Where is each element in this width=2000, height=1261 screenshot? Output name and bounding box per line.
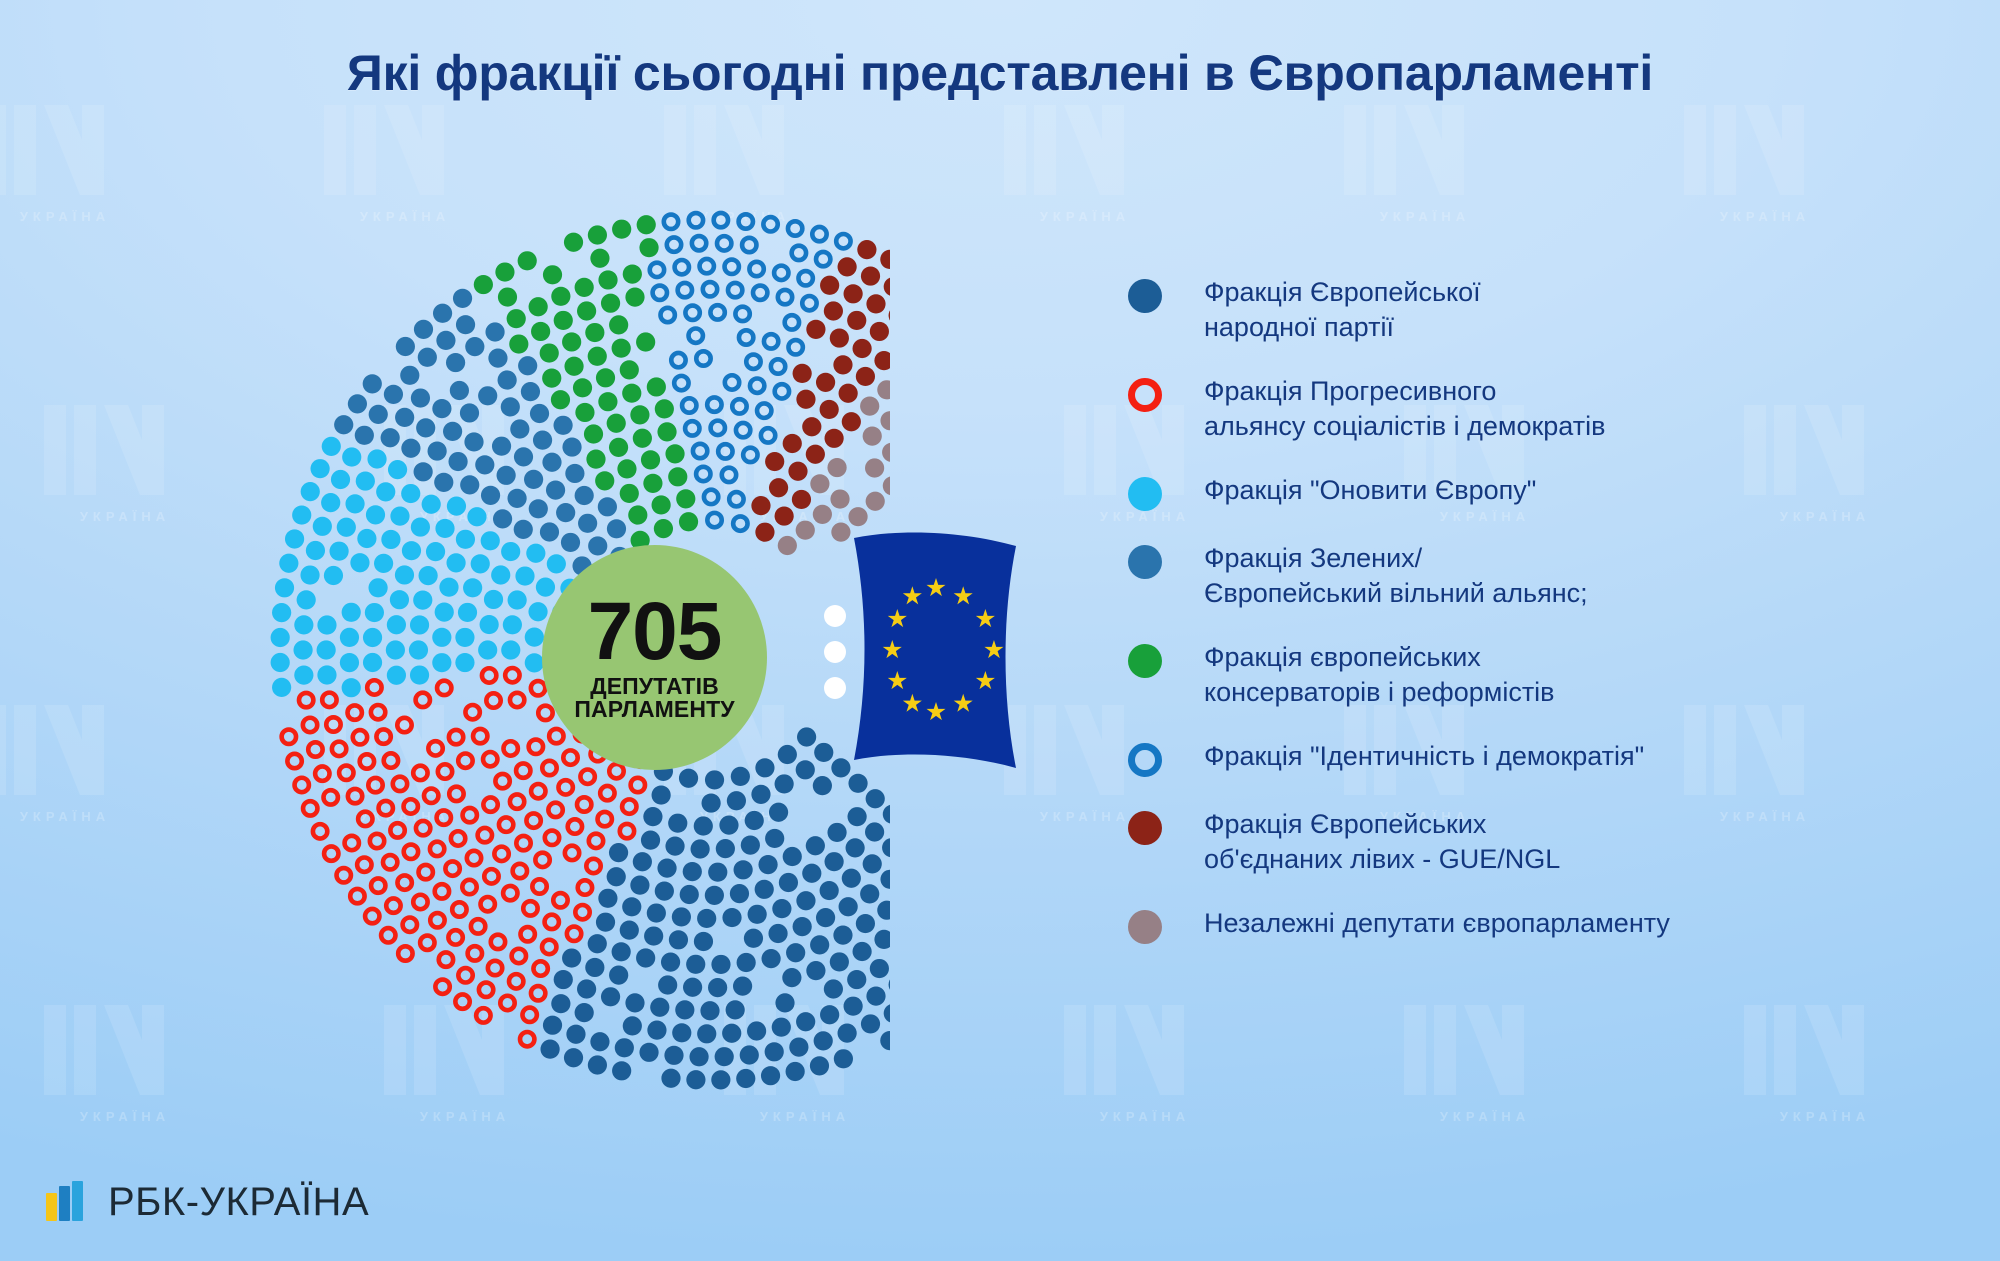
seat-dot	[729, 492, 743, 506]
seat-dot	[628, 505, 647, 524]
seat-dot	[870, 959, 889, 978]
seat-dot	[287, 754, 301, 768]
seat-dot	[774, 266, 788, 280]
seat-dot	[650, 263, 664, 277]
watermark-mark-icon	[0, 695, 160, 805]
seat-dot	[409, 640, 428, 659]
seat-dot	[838, 257, 857, 276]
seat-dot	[715, 1047, 734, 1066]
seat-dot	[414, 320, 433, 339]
seat-dot	[301, 482, 320, 501]
watermark-text: УКРАЇНА	[30, 1109, 220, 1124]
seat-dot	[308, 742, 322, 756]
seat-dot	[622, 384, 641, 403]
seat-dot	[365, 603, 384, 622]
seat-dot	[282, 730, 296, 744]
seat-dot	[842, 412, 861, 431]
seat-dot	[669, 930, 688, 949]
seat-dot	[678, 283, 692, 297]
seat-dot	[675, 260, 689, 274]
seat-dot	[820, 881, 839, 900]
seat-dot	[866, 987, 885, 1006]
seat-dot	[329, 542, 348, 561]
seat-dot	[410, 615, 429, 634]
seat-dot	[384, 385, 403, 404]
seat-dot	[620, 360, 639, 379]
seat-dot	[598, 812, 612, 826]
seat-dot	[703, 282, 717, 296]
legend-label: Фракція Прогресивного альянсу соціалісті…	[1204, 374, 1605, 443]
seat-dot	[518, 251, 537, 270]
seat-dot	[847, 311, 866, 330]
seat-dot	[679, 769, 698, 788]
seat-dot	[866, 492, 885, 511]
seat-dot	[563, 750, 577, 764]
seat-dot	[880, 250, 890, 269]
legend-item-ecr[interactable]: Фракція європейських консерваторів і реф…	[1128, 640, 1928, 709]
seat-dot	[495, 262, 514, 281]
seat-dot	[753, 286, 767, 300]
seat-dot	[432, 653, 451, 672]
seat-dot	[551, 287, 570, 306]
seat-dot	[742, 238, 756, 252]
seat-dot	[806, 961, 825, 980]
seat-dot	[478, 828, 492, 842]
seat-dot	[689, 213, 703, 227]
seat-dot	[865, 458, 884, 477]
legend-item-sd[interactable]: Фракція Прогресивного альянсу соціалісті…	[1128, 374, 1928, 443]
seat-dot	[816, 908, 835, 927]
total-seats-number: 705	[588, 593, 722, 671]
seat-dot	[796, 1012, 815, 1031]
seat-dot	[381, 928, 395, 942]
seat-dot	[757, 403, 771, 417]
seat-dot	[403, 918, 417, 932]
seat-dot	[324, 846, 338, 860]
seat-dot	[600, 786, 614, 800]
seat-dot	[771, 359, 785, 373]
seat-dot	[536, 578, 555, 597]
seat-dot	[866, 789, 885, 808]
seat-dot	[411, 388, 430, 407]
seat-dot	[452, 902, 466, 916]
seat-dot	[474, 275, 493, 294]
seat-dot	[775, 506, 794, 525]
seat-dot	[356, 471, 375, 490]
seat-dot	[683, 862, 702, 881]
seat-dot	[585, 958, 604, 977]
seat-dot	[743, 448, 757, 462]
seat-dot	[653, 286, 667, 300]
seat-dot	[682, 398, 696, 412]
seat-dot	[303, 801, 317, 815]
seat-dot	[820, 400, 839, 419]
seat-dot	[796, 760, 815, 779]
seat-dot	[586, 859, 600, 873]
watermark-mark-icon	[1670, 95, 1860, 205]
seat-dot	[505, 668, 519, 682]
seat-dot	[526, 544, 545, 563]
seat-dot	[806, 320, 825, 339]
seat-dot	[353, 730, 367, 744]
watermark-mark-icon	[1730, 995, 1920, 1105]
seat-dot	[449, 730, 463, 744]
seat-dot	[435, 980, 449, 994]
total-seats-badge: 705 ДЕПУТАТІВ ПАРЛАМЕНТУ	[542, 545, 767, 770]
seat-dot	[797, 727, 816, 746]
seat-dot	[607, 519, 626, 538]
legend-marker-left-guengl-icon	[1128, 811, 1162, 845]
seat-dot	[694, 932, 713, 951]
seat-dot	[548, 803, 562, 817]
seat-dot	[554, 311, 573, 330]
seat-dot	[317, 640, 336, 659]
seat-dot	[324, 790, 338, 804]
seat-dot	[410, 665, 429, 684]
seat-dot	[575, 905, 589, 919]
seat-dot	[860, 396, 879, 415]
seat-dot	[775, 993, 794, 1012]
seat-dot	[303, 718, 317, 732]
seat-dot	[722, 468, 736, 482]
seat-dot	[598, 392, 617, 411]
seat-dot	[432, 399, 451, 418]
seat-dot	[510, 794, 524, 808]
seat-dot	[652, 785, 671, 804]
seat-dot	[482, 668, 496, 682]
seat-dot	[435, 602, 454, 621]
seat-dot	[824, 301, 843, 320]
seat-dot	[543, 1016, 562, 1035]
seat-dot	[413, 590, 432, 609]
seat-dot	[516, 836, 530, 850]
seat-dot	[523, 901, 537, 915]
seat-dot	[271, 628, 290, 647]
legend-item-greens-efa[interactable]: Фракція Зелених/ Європейський вільний ал…	[1128, 541, 1928, 610]
hemicycle-seat-chart	[150, 200, 890, 1100]
seat-dot	[455, 653, 474, 672]
seat-dot	[529, 740, 543, 754]
seat-dot	[531, 986, 545, 1000]
seat-dot	[575, 1003, 594, 1022]
seat-dot	[348, 705, 362, 719]
seat-dot	[768, 924, 787, 943]
seat-dot	[816, 252, 830, 266]
seat-dot	[711, 955, 730, 974]
seat-dot	[725, 260, 739, 274]
seat-dot	[630, 876, 649, 895]
seat-dot	[285, 529, 304, 548]
seat-dot	[793, 917, 812, 936]
seat-dot	[874, 930, 890, 949]
seat-dot	[588, 934, 607, 953]
seat-dot	[588, 225, 607, 244]
seat-dot	[507, 309, 526, 328]
seat-dot	[637, 215, 656, 234]
seat-dot	[501, 640, 520, 659]
seat-dot	[633, 429, 652, 448]
seat-dot	[476, 1008, 490, 1022]
seat-dot	[733, 516, 747, 530]
seat-dot	[641, 450, 660, 469]
legend: Фракція Європейської народної партіїФрак…	[1128, 275, 1928, 974]
seat-dot	[861, 1014, 880, 1033]
seat-dot	[493, 509, 512, 528]
seat-dot	[786, 943, 805, 962]
seat-dot	[565, 464, 584, 483]
seat-dot	[620, 484, 639, 503]
seat-dot	[562, 948, 581, 967]
seat-dot	[880, 1031, 890, 1050]
seat-dot	[755, 758, 774, 777]
legend-item-epp[interactable]: Фракція Європейської народної партії	[1128, 275, 1928, 344]
seat-dot	[696, 351, 710, 365]
seat-dot	[418, 348, 437, 367]
seat-dot	[348, 789, 362, 803]
seat-dot	[510, 693, 524, 707]
seat-dot	[345, 494, 364, 513]
seat-dot	[861, 266, 880, 285]
seat-dot	[882, 443, 890, 462]
seat-dot	[744, 929, 763, 948]
seat-dot	[400, 366, 419, 385]
legend-item-id[interactable]: Фракція "Ідентичність і демократія"	[1128, 739, 1928, 777]
seat-dot	[564, 357, 583, 376]
legend-label: Фракція Європейської народної партії	[1204, 275, 1481, 344]
seat-dot	[376, 729, 390, 743]
seat-dot	[369, 405, 388, 424]
seat-dot	[371, 878, 385, 892]
seat-dot	[363, 374, 382, 393]
seat-dot	[453, 289, 472, 308]
seat-dot	[573, 378, 592, 397]
legend-item-left-guengl[interactable]: Фракція Європейських об'єднаних лівих - …	[1128, 807, 1928, 876]
seat-dot	[577, 979, 596, 998]
seat-dot	[882, 838, 890, 857]
seat-dot	[532, 879, 546, 893]
seat-dot	[707, 513, 721, 527]
seat-dot	[762, 949, 781, 968]
seat-dot	[562, 437, 581, 456]
seat-dot	[545, 915, 559, 929]
seat-dot	[728, 283, 742, 297]
seat-dot	[863, 427, 882, 446]
seat-dot	[740, 1045, 759, 1064]
flag-accent-dot	[824, 641, 846, 663]
seat-dot	[337, 868, 351, 882]
seat-dot	[367, 449, 386, 468]
seat-dot	[625, 993, 644, 1012]
seat-dot	[827, 458, 846, 477]
seat-dot	[451, 831, 465, 845]
seat-dot	[271, 653, 290, 672]
seat-dot	[836, 234, 850, 248]
seat-dot	[664, 1046, 683, 1065]
seat-dot	[643, 474, 662, 493]
seat-dot	[737, 953, 756, 972]
flag-accent-dot	[824, 677, 846, 699]
seat-dot	[748, 905, 767, 924]
seat-dot	[810, 1056, 829, 1075]
seat-dot	[337, 518, 356, 537]
seat-dot	[294, 615, 313, 634]
seat-dot	[585, 323, 604, 342]
seat-dot	[513, 864, 527, 878]
seat-dot	[661, 1069, 680, 1088]
seat-dot	[430, 842, 444, 856]
seat-dot	[554, 970, 573, 989]
seat-dot	[685, 306, 699, 320]
seat-dot	[609, 315, 628, 334]
seat-dot	[546, 480, 565, 499]
seat-dot	[650, 998, 669, 1017]
seat-dot	[396, 337, 415, 356]
watermark-text: УКРАЇНА	[990, 209, 1180, 224]
seat-dot	[772, 899, 791, 918]
seat-dot	[494, 847, 508, 861]
seat-dot	[772, 1018, 791, 1037]
legend-marker-renew-icon	[1128, 477, 1162, 511]
seat-dot	[586, 450, 605, 469]
seat-dot	[321, 493, 340, 512]
seat-dot	[824, 979, 843, 998]
legend-marker-ecr-icon	[1128, 644, 1162, 678]
watermark: УКРАЇНА	[1050, 995, 1240, 1135]
seat-dot	[495, 774, 509, 788]
seat-dot	[731, 767, 750, 786]
legend-label: Фракція "Ідентичність і демократія"	[1204, 739, 1644, 774]
seat-dot	[414, 462, 433, 481]
seat-dot	[299, 693, 313, 707]
seat-dot	[467, 851, 481, 865]
seat-dot	[702, 793, 721, 812]
seat-dot	[313, 824, 327, 838]
seat-dot	[746, 355, 760, 369]
seat-dot	[689, 1047, 708, 1066]
watermark: УКРАЇНА	[1670, 95, 1860, 235]
seat-dot	[491, 565, 510, 584]
seat-dot	[761, 1066, 780, 1085]
seat-dot	[775, 774, 794, 793]
seat-dot	[612, 220, 631, 239]
seat-dot	[397, 718, 411, 732]
seat-dot	[833, 926, 852, 945]
seat-dot	[631, 778, 645, 792]
seat-dot	[612, 942, 631, 961]
seat-dot	[830, 489, 849, 508]
brand-name: РБК-УКРАЇНА	[108, 1180, 369, 1225]
seat-dot	[449, 787, 463, 801]
seat-dot	[272, 603, 291, 622]
legend-item-non-attached[interactable]: Незалежні депутати європарламенту	[1128, 906, 1928, 944]
seat-dot	[671, 353, 685, 367]
seat-dot	[660, 308, 674, 322]
seat-dot	[697, 909, 716, 928]
seat-dot	[521, 382, 540, 401]
seat-dot	[620, 824, 634, 838]
seat-dot	[367, 680, 381, 694]
seat-dot	[601, 987, 620, 1006]
seat-dot	[531, 322, 550, 341]
seat-dot	[825, 429, 844, 448]
seat-dot	[856, 914, 875, 933]
watermark-mark-icon	[310, 95, 500, 205]
seat-dot	[503, 886, 517, 900]
seat-dot	[509, 974, 523, 988]
seat-dot	[401, 439, 420, 458]
seat-dot	[488, 961, 502, 975]
seat-dot	[435, 519, 454, 538]
seat-dot	[749, 262, 763, 276]
seat-dot	[689, 329, 703, 343]
seat-dot	[370, 834, 384, 848]
seat-dot	[374, 554, 393, 573]
seat-dot	[566, 1025, 585, 1044]
seat-dot	[381, 530, 400, 549]
seat-dot	[705, 770, 724, 789]
seat-dot	[607, 867, 626, 886]
watermark-mark-icon	[650, 95, 840, 205]
seat-dot	[450, 381, 469, 400]
seat-dot	[622, 799, 636, 813]
seat-dot	[697, 1024, 716, 1043]
seat-dot	[779, 873, 798, 892]
seat-dot	[460, 403, 479, 422]
seat-dot	[355, 426, 374, 445]
seat-dot	[306, 541, 325, 560]
seat-dot	[668, 814, 687, 833]
seat-dot	[528, 602, 547, 621]
seat-dot	[419, 865, 433, 879]
seat-dot	[535, 853, 549, 867]
seat-dot	[730, 884, 749, 903]
seat-dot	[745, 811, 764, 830]
seat-dot	[445, 861, 459, 875]
seat-dot	[464, 432, 483, 451]
seat-dot	[481, 897, 495, 911]
seat-dot	[300, 565, 319, 584]
seat-dot	[365, 909, 379, 923]
seat-dot	[463, 808, 477, 822]
seat-dot	[515, 566, 534, 585]
seat-dot	[889, 306, 890, 325]
seat-dot	[516, 763, 530, 777]
seat-dot	[484, 590, 503, 609]
seat-dot	[842, 869, 861, 888]
seat-dot	[438, 764, 452, 778]
legend-item-renew[interactable]: Фракція "Оновити Європу"	[1128, 473, 1928, 511]
seat-dot	[360, 754, 374, 768]
seat-dot	[439, 578, 458, 597]
seat-dot	[810, 474, 829, 493]
seat-dot	[668, 467, 687, 486]
seat-dot	[711, 421, 725, 435]
seat-dot	[455, 628, 474, 647]
seat-dot	[806, 836, 825, 855]
seat-dot	[765, 452, 784, 471]
seat-dot	[877, 380, 890, 399]
seat-dot	[551, 390, 570, 409]
seat-dot	[564, 233, 583, 252]
seat-dot	[802, 296, 816, 310]
seat-dot	[525, 628, 544, 647]
seat-dot	[665, 444, 684, 463]
seat-dot	[870, 322, 889, 341]
seat-dot	[393, 777, 407, 791]
seat-dot	[428, 741, 442, 755]
seat-dot	[458, 603, 477, 622]
seat-dot	[880, 870, 890, 889]
